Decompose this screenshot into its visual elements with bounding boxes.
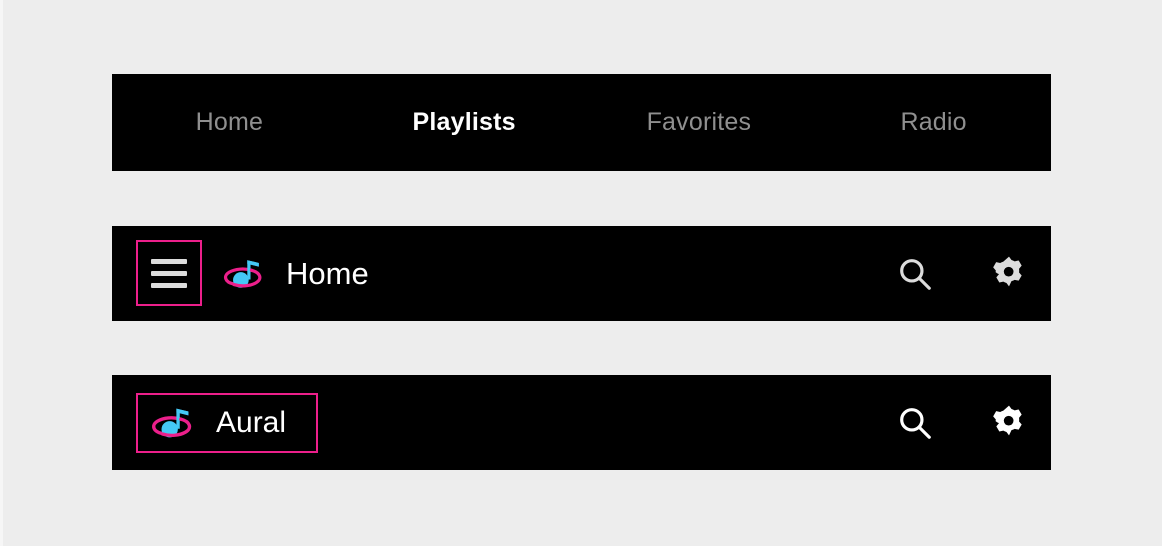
hamburger-menu-icon-line-3 xyxy=(151,283,187,288)
settings-button[interactable] xyxy=(989,254,1029,294)
nav-item-home[interactable]: Home xyxy=(112,110,347,135)
search-icon xyxy=(896,404,934,442)
brand-button[interactable]: Aural xyxy=(136,393,318,453)
page-left-edge xyxy=(0,0,3,546)
nav-item-favorites[interactable]: Favorites xyxy=(582,110,817,135)
hamburger-menu-button[interactable] xyxy=(136,240,202,306)
nav-item-radio[interactable]: Radio xyxy=(816,110,1051,135)
nav-item-list: Home Playlists Favorites Radio xyxy=(112,74,1051,171)
aural-music-note-planet-logo-icon xyxy=(150,399,198,447)
search-icon xyxy=(896,255,934,293)
search-button[interactable] xyxy=(895,254,935,294)
app-bar-title: Home xyxy=(286,258,369,289)
brand-bar-actions xyxy=(895,375,1029,470)
gear-icon xyxy=(989,254,1029,294)
top-navigation-bar: Home Playlists Favorites Radio xyxy=(112,74,1051,171)
settings-button[interactable] xyxy=(989,403,1029,443)
brand-name-label: Aural xyxy=(216,408,286,438)
hamburger-menu-icon-line-2 xyxy=(151,271,187,276)
hamburger-menu-icon-line-1 xyxy=(151,259,187,264)
app-bar-with-menu: Home xyxy=(112,226,1051,321)
search-button[interactable] xyxy=(895,403,935,443)
app-bar-left-cluster: Home xyxy=(222,226,369,321)
gear-icon xyxy=(989,403,1029,443)
app-bar-with-brand: Aural xyxy=(112,375,1051,470)
aural-music-note-planet-logo-icon xyxy=(222,251,268,297)
nav-item-playlists[interactable]: Playlists xyxy=(347,110,582,135)
app-bar-actions xyxy=(895,226,1029,321)
